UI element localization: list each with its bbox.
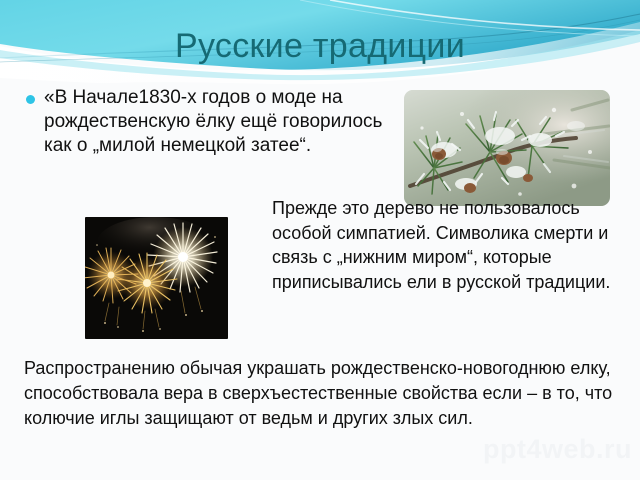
list-item: «В Начале1830-х годов о моде на рождеств… [26, 86, 398, 158]
bullet-item-text: «В Начале1830-х годов о моде на рождеств… [44, 86, 398, 158]
site-watermark: ppt4web.ru [432, 432, 632, 466]
slide-title: Русские традиции [0, 26, 640, 66]
bullet-dot-icon [26, 95, 35, 104]
bullet-list: «В Начале1830-х годов о моде на рождеств… [26, 86, 398, 158]
bottom-paragraph: Распространению обычая украшать рождеств… [24, 356, 620, 431]
fireworks-photo [85, 217, 228, 339]
snow-covered-pine-branch-photo [404, 90, 610, 206]
middle-paragraph: Прежде это дерево не пользовалось особой… [272, 196, 634, 294]
presentation-slide: Русские традиции «В Начале1830-х годов о… [0, 0, 640, 480]
